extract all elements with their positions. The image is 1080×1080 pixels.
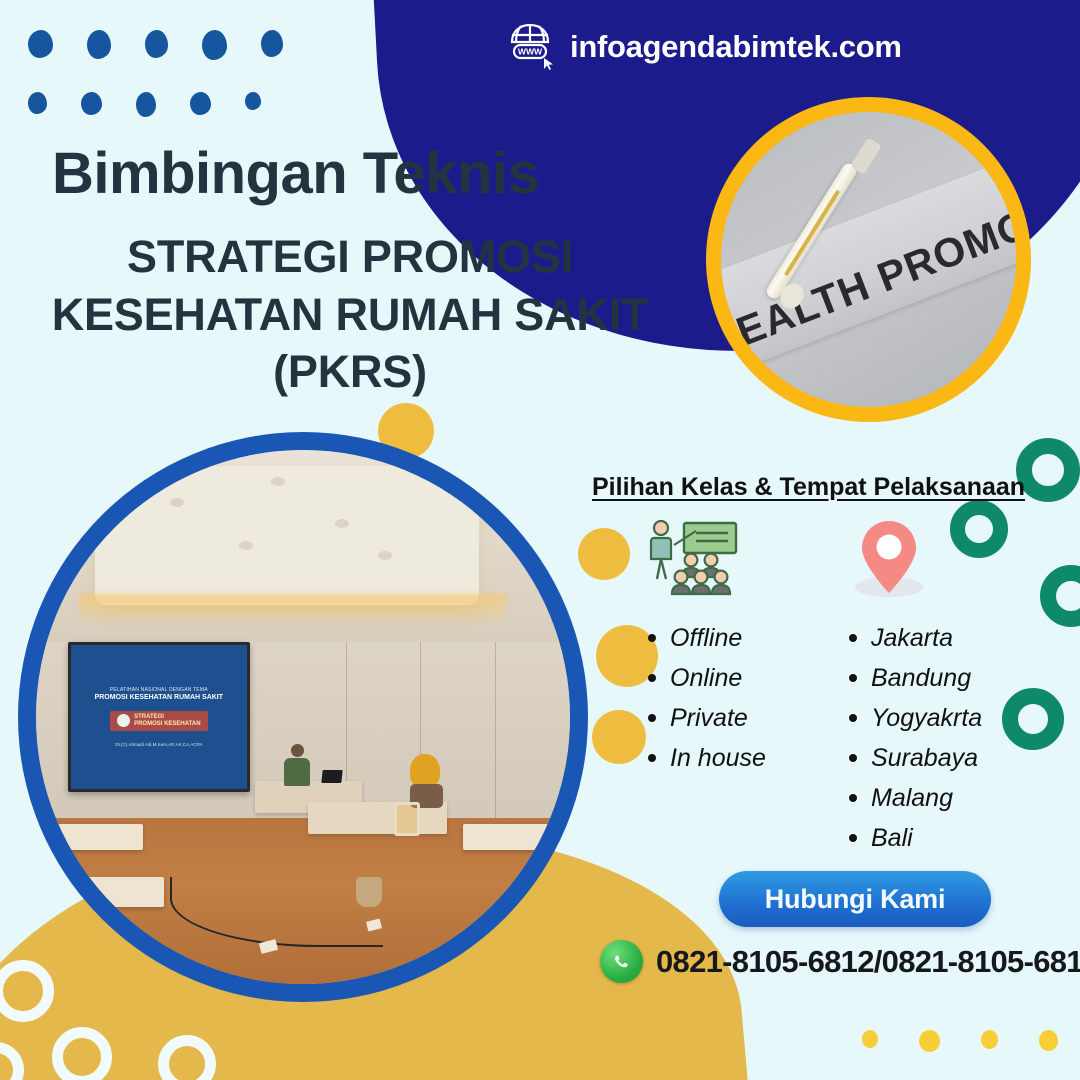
participant-head (410, 754, 440, 788)
list-item: In house (644, 742, 807, 774)
blue-dot-grid (28, 30, 283, 117)
ceiling-recess (95, 466, 479, 605)
list-item: Bandung (845, 662, 1022, 694)
options-heading: Pilihan Kelas & Tempat Pelaksanaan (592, 473, 1025, 502)
yellow-dot-row (862, 1030, 1080, 1052)
list-item: Surabaya (845, 742, 1022, 774)
slide-presenter: Dr.(C).Ahmadi Adi,M.Kem,AR,AK,CA,ACPA (115, 742, 202, 747)
thermometer-photo-circle: EALTH PROMOTION (706, 97, 1031, 422)
list-item: Private (644, 702, 807, 734)
slide-banner-line-1: STRATEGI (134, 714, 164, 720)
poster-canvas: WWW infoagendabimtek.com EALTH PROMOTION… (0, 0, 1080, 1080)
slide-banner-text: STRATEGI PROMOSI KESEHATAN (134, 714, 200, 728)
list-item: Yogyakrta (845, 702, 1022, 734)
laptop (321, 770, 342, 783)
svg-text:WWW: WWW (518, 47, 543, 57)
location-options-list: Jakarta Bandung Yogyakrta Surabaya Malan… (845, 622, 1022, 854)
list-item: Offline (644, 622, 807, 654)
participant-person (410, 754, 444, 808)
thermometer-photo: EALTH PROMOTION (721, 112, 1016, 407)
slide-banner-line-2: PROMOSI KESEHATAN (134, 721, 200, 727)
globe-www-icon: WWW (508, 22, 554, 72)
location-options-column: Jakarta Bandung Yogyakrta Surabaya Malan… (807, 512, 1022, 862)
ceiling-fixture (271, 477, 285, 486)
bench-left-upper (47, 824, 143, 851)
projector-screen: PELATIHAN NASIONAL DENGAN TEMA PROMOSI K… (68, 642, 250, 792)
seminar-photo-circle: PELATIHAN NASIONAL DENGAN TEMA PROMOSI K… (18, 432, 588, 1002)
class-options-column: Offline Online Private In house (592, 512, 807, 862)
ceiling-fixture (239, 541, 253, 550)
list-item: Online (644, 662, 807, 694)
contact-us-button[interactable]: Hubungi Kami (719, 871, 991, 927)
poster-main-title: STRATEGI PROMOSI KESEHATAN RUMAH SAKIT (… (0, 228, 700, 401)
title-line-1: STRATEGI PROMOSI (0, 228, 700, 286)
title-line-2: KESEHATAN RUMAH SAKIT (0, 286, 700, 344)
slide-title: PROMOSI KESEHATAN RUMAH SAKIT (95, 694, 223, 701)
bench-right (463, 824, 559, 851)
options-columns: Offline Online Private In house Jakarta … (592, 512, 1022, 862)
whatsapp-icon[interactable] (600, 940, 643, 983)
wall-seam (495, 642, 496, 824)
ceiling-light-glow (79, 594, 506, 626)
classroom-training-icon (644, 512, 807, 604)
speaker-body (284, 758, 310, 786)
teal-ring-3 (1040, 565, 1080, 627)
phone-numbers[interactable]: 0821-8105-6812/0821-8105-6813 (656, 944, 1080, 980)
speaker-person (284, 744, 310, 786)
list-item: Malang (845, 782, 1022, 814)
website-row[interactable]: WWW infoagendabimtek.com (508, 22, 902, 72)
slide-banner: STRATEGI PROMOSI KESEHATAN (110, 711, 207, 731)
seminar-photo: PELATIHAN NASIONAL DENGAN TEMA PROMOSI K… (36, 450, 570, 984)
slide-top-line: PELATIHAN NASIONAL DENGAN TEMA (110, 687, 208, 693)
website-url[interactable]: infoagendabimtek.com (570, 29, 902, 65)
list-item: Jakarta (845, 622, 1022, 654)
list-item: Bali (845, 822, 1022, 854)
thermometer-tip (850, 137, 882, 174)
phone-row[interactable]: 0821-8105-6812/0821-8105-6813 (600, 940, 1080, 983)
poster-eyebrow-title: Bimbingan Teknis (52, 140, 539, 207)
speaker-head (291, 744, 304, 757)
ceiling-fixture (170, 498, 184, 507)
white-ring-2 (52, 1027, 112, 1080)
teal-ring-1 (1016, 438, 1080, 502)
class-options-list: Offline Online Private In house (644, 622, 807, 774)
bench-left-lower (57, 877, 164, 906)
map-pin-icon (845, 512, 1022, 604)
slide-logo-badge (117, 714, 130, 727)
title-line-3: (PKRS) (0, 343, 700, 401)
chair (394, 802, 420, 836)
